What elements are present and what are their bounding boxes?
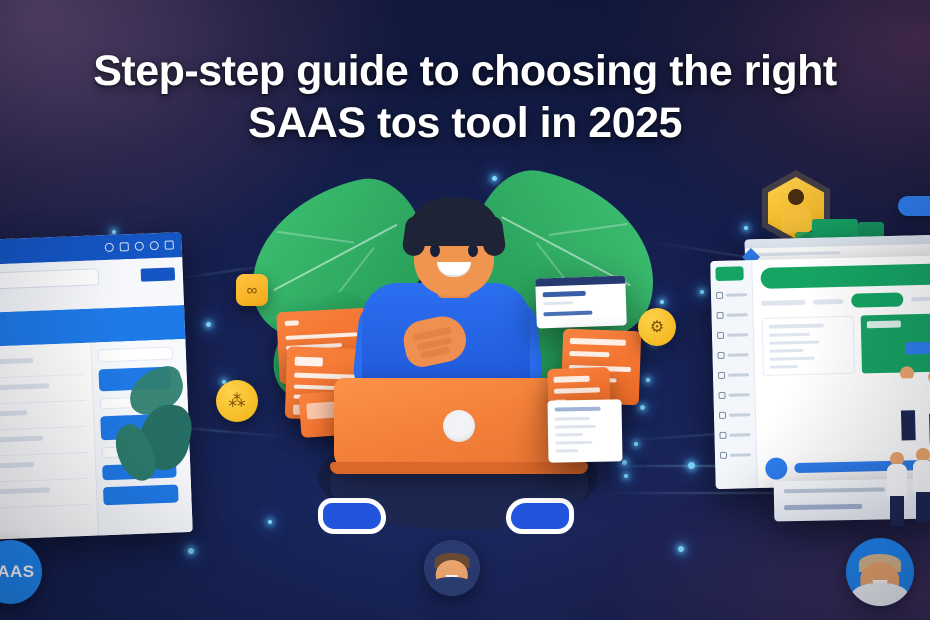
- title-line-1: Step-step guide to choosing the right: [93, 47, 837, 95]
- left-dashboard-searchbar: [0, 257, 184, 313]
- list-item[interactable]: [0, 479, 90, 509]
- note-card-mockup[interactable]: [547, 399, 622, 462]
- avatar-body: [428, 577, 475, 596]
- sidebar-item[interactable]: [718, 388, 749, 402]
- hair: [408, 198, 500, 246]
- send-button[interactable]: [794, 459, 930, 473]
- left-dashboard-list: [0, 343, 98, 540]
- network-icon: ⁂: [229, 391, 246, 411]
- sidebar-item[interactable]: [716, 288, 747, 302]
- gear-icon: ⚙: [650, 317, 664, 337]
- title-line-2: SAAS tos tool in 2025: [0, 97, 930, 149]
- shoe-left: [318, 498, 386, 534]
- top-right-pill-button[interactable]: [898, 196, 930, 216]
- search-input[interactable]: [0, 268, 99, 290]
- avatar-center-bottom[interactable]: [424, 540, 480, 596]
- primary-button[interactable]: [141, 267, 175, 281]
- share-icon: ∞: [247, 282, 258, 299]
- sidebar-item[interactable]: [720, 448, 751, 462]
- gear-icon-badge[interactable]: ⚙: [638, 308, 676, 346]
- browser-window-mockup[interactable]: [535, 275, 627, 328]
- list-item: [98, 347, 174, 363]
- sidebar-item[interactable]: [717, 348, 748, 362]
- laptop-logo: [443, 410, 475, 442]
- sidebar-item[interactable]: [719, 408, 750, 422]
- settings-icon[interactable]: [135, 242, 144, 251]
- sidebar-item[interactable]: [719, 428, 750, 442]
- list-item: [103, 484, 179, 505]
- sidebar-item[interactable]: [716, 308, 747, 322]
- saas-badge-label: SAAS: [0, 562, 35, 582]
- cart-icon[interactable]: [120, 242, 129, 251]
- user-icon[interactable]: [150, 241, 159, 250]
- menu-icon[interactable]: [165, 240, 174, 249]
- hero-banner: Step-step guide to choosing the right SA…: [0, 0, 930, 620]
- shoe-right: [506, 498, 574, 534]
- cta-button[interactable]: [851, 292, 903, 307]
- page-title: Step-step guide to choosing the right SA…: [0, 45, 930, 150]
- right-dashboard-main: [752, 255, 930, 488]
- right-dashboard-sidebar: [710, 260, 758, 489]
- avatar-right-bottom[interactable]: [846, 538, 914, 606]
- laptop-edge: [330, 462, 588, 474]
- sidebar-item[interactable]: [718, 368, 749, 382]
- share-icon-badge[interactable]: ∞: [236, 274, 268, 306]
- brand-logo: [715, 266, 743, 281]
- header-pill[interactable]: [760, 263, 930, 289]
- sidebar-item[interactable]: [717, 328, 748, 342]
- search-icon[interactable]: [105, 243, 114, 252]
- network-icon-badge[interactable]: ⁂: [216, 380, 258, 422]
- chat-avatar-icon[interactable]: [765, 457, 788, 480]
- avatar-body: [851, 583, 908, 606]
